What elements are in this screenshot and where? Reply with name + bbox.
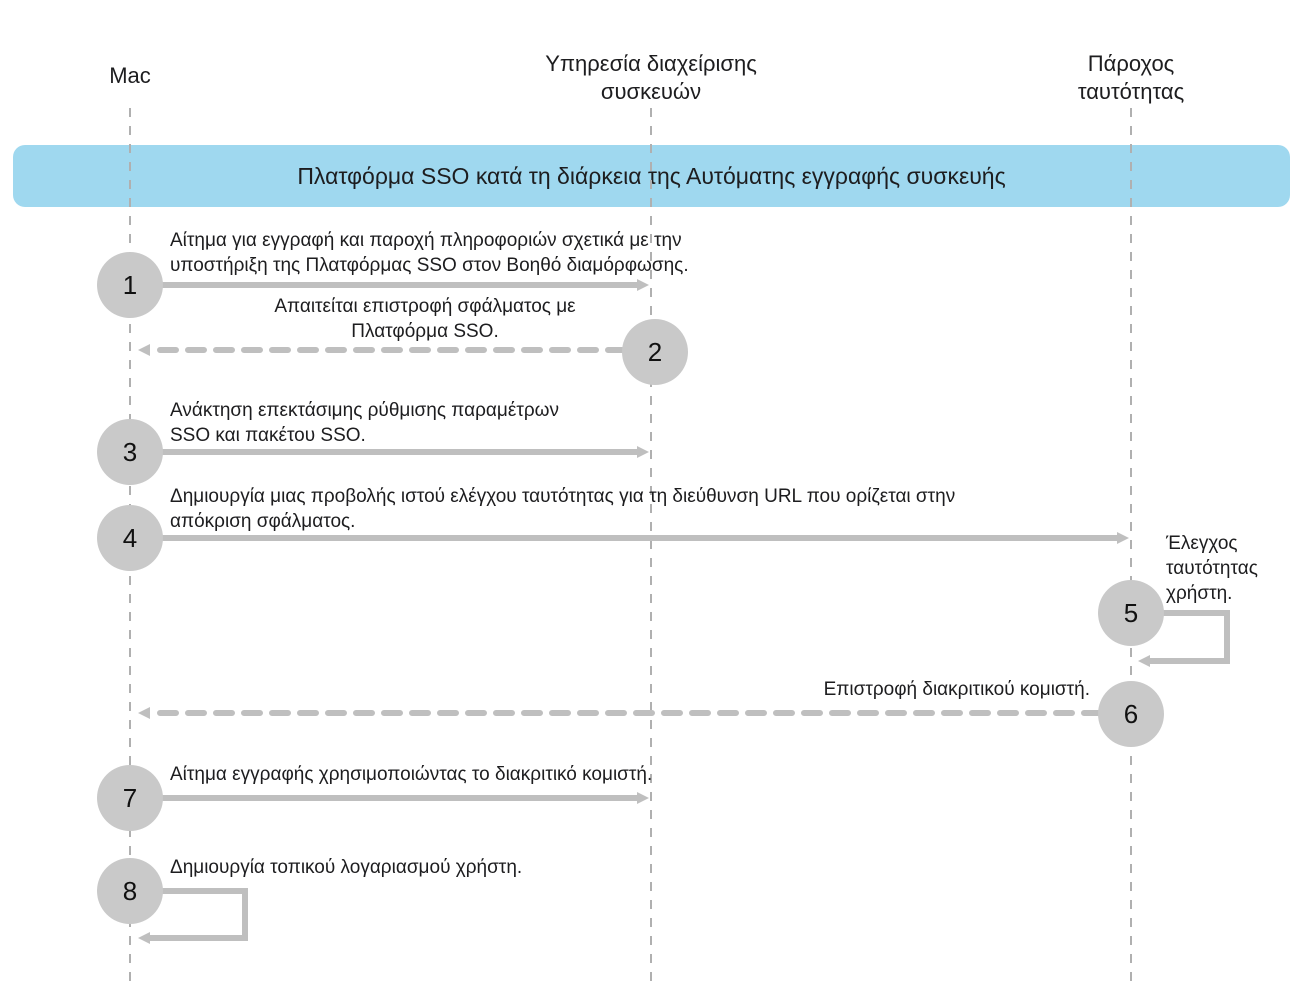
lifeline-header-device-management-service-label: Υπηρεσία διαχείρισης συσκευών <box>545 51 757 104</box>
message-label-7: Αίτημα εγγραφής χρησιμοποιώντας το διακρ… <box>170 762 870 787</box>
phase-banner: Πλατφόρμα SSO κατά τη διάρκεια της Αυτόμ… <box>13 145 1290 207</box>
message-label-5: Έλεγχος ταυτότητας χρήστη. <box>1166 531 1296 606</box>
lifeline-header-identity-provider: Πάροχος ταυτότητας <box>1011 22 1251 106</box>
message-label-4: Δημιουργία μιας προβολής ιστού ελέγχου τ… <box>170 484 1150 534</box>
step-number-4: 4 <box>123 523 137 554</box>
step-circle-7[interactable]: 7 <box>97 765 163 831</box>
phase-banner-title: Πλατφόρμα SSO κατά τη διάρκεια της Αυτόμ… <box>297 163 1005 190</box>
message-arrow-8-self-loop <box>149 891 245 938</box>
message-label-2: Απαιτείται επιστροφή σφάλματος με Πλατφό… <box>230 294 620 344</box>
step-number-5: 5 <box>1124 598 1138 629</box>
sequence-diagram: Mac Υπηρεσία διαχείρισης συσκευών Πάροχο… <box>0 0 1303 987</box>
step-circle-8[interactable]: 8 <box>97 858 163 924</box>
step-number-2: 2 <box>648 337 662 368</box>
step-number-3: 3 <box>123 437 137 468</box>
step-circle-4[interactable]: 4 <box>97 505 163 571</box>
step-number-7: 7 <box>123 783 137 814</box>
lifeline-header-mac-label: Mac <box>109 63 151 88</box>
step-circle-2[interactable]: 2 <box>622 319 688 385</box>
message-label-1: Αίτημα για εγγραφή και παροχή πληροφοριώ… <box>170 228 870 278</box>
step-circle-6[interactable]: 6 <box>1098 681 1164 747</box>
step-circle-3[interactable]: 3 <box>97 419 163 485</box>
step-circle-1[interactable]: 1 <box>97 252 163 318</box>
message-label-8: Δημιουργία τοπικού λογαριασμού χρήστη. <box>170 855 770 880</box>
lifeline-header-mac: Mac <box>30 34 230 90</box>
step-number-1: 1 <box>123 270 137 301</box>
lifeline-header-device-management-service: Υπηρεσία διαχείρισης συσκευών <box>481 22 821 106</box>
message-label-3: Ανάκτηση επεκτάσιμης ρύθμισης παραμέτρων… <box>170 398 690 448</box>
step-number-8: 8 <box>123 876 137 907</box>
step-circle-5[interactable]: 5 <box>1098 580 1164 646</box>
message-label-6: Επιστροφή διακριτικού κομιστή. <box>600 677 1090 702</box>
step-number-6: 6 <box>1124 699 1138 730</box>
lifeline-header-identity-provider-label: Πάροχος ταυτότητας <box>1078 51 1184 104</box>
